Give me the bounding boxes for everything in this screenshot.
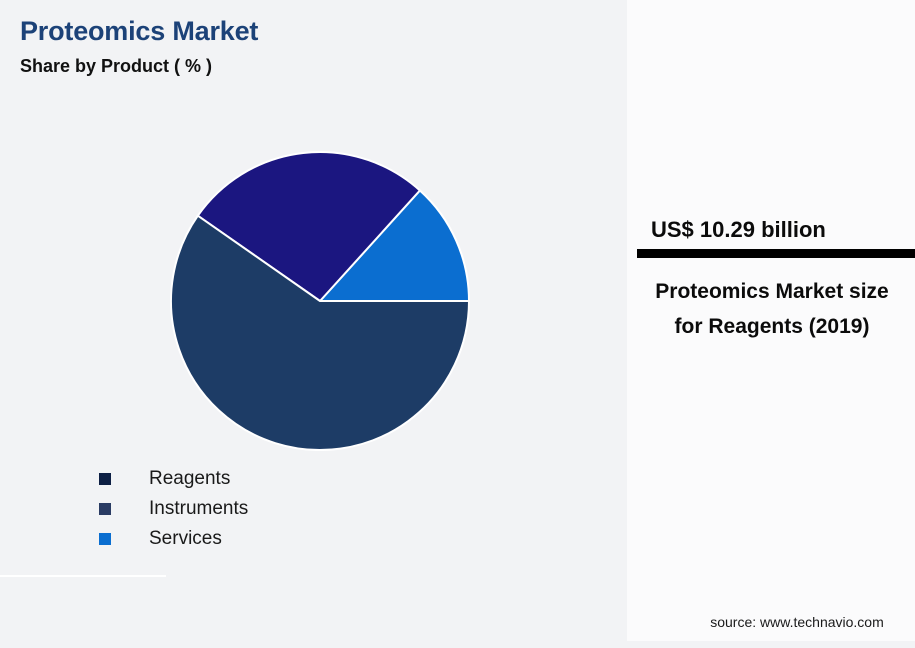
- legend: Reagents Instruments Services: [99, 464, 519, 554]
- legend-item-instruments[interactable]: Instruments: [99, 494, 519, 524]
- page-title: Proteomics Market: [20, 14, 600, 48]
- legend-item-services[interactable]: Services: [99, 524, 519, 554]
- divider-rule: [0, 575, 166, 577]
- legend-label: Reagents: [149, 468, 230, 490]
- legend-label: Services: [149, 528, 222, 550]
- callout-value: US$ 10.29 billion: [651, 216, 915, 244]
- infographic-canvas: Proteomics Market Share by Product ( % )…: [0, 0, 915, 648]
- callout-divider-bar: [637, 249, 915, 258]
- legend-item-reagents[interactable]: Reagents: [99, 464, 519, 494]
- pie-chart-svg: [170, 151, 470, 451]
- legend-swatch-icon: [99, 533, 111, 545]
- legend-label: Instruments: [149, 498, 248, 520]
- legend-swatch-icon: [99, 503, 111, 515]
- chart-subtitle: Share by Product ( % ): [20, 54, 600, 78]
- title-block: Proteomics Market Share by Product ( % ): [20, 14, 600, 78]
- legend-swatch-icon: [99, 473, 111, 485]
- chart-panel: Proteomics Market Share by Product ( % )…: [0, 0, 627, 648]
- callout-caption: Proteomics Market size for Reagents (201…: [641, 274, 903, 344]
- callout-panel: US$ 10.29 billion Proteomics Market size…: [627, 0, 915, 641]
- pie-chart: [170, 151, 470, 451]
- source-note: source: www.technavio.com: [679, 614, 915, 630]
